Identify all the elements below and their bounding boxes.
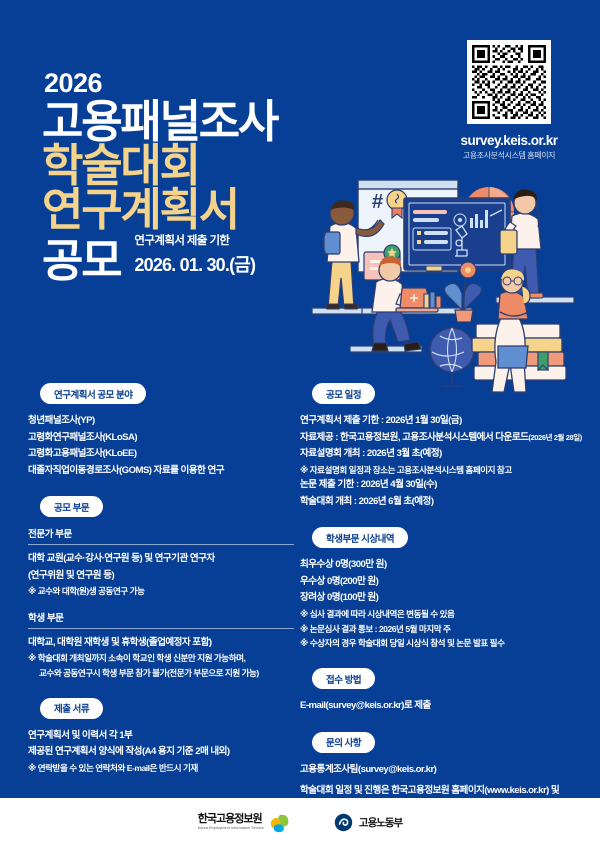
schedule-item-text: 자료설명회 개최 : 2026년 3월 초(예정) bbox=[300, 448, 442, 459]
keis-name-en: Korea Employment Information Service bbox=[198, 827, 264, 831]
keis-name-ko: 한국고용정보원 bbox=[198, 814, 264, 825]
deadline-block: 연구계획서 제출 기한 2026. 01. 30.(금) bbox=[134, 232, 255, 283]
qr-url-text: survey.keis.or.kr bbox=[444, 133, 574, 148]
globe-icon bbox=[430, 328, 474, 386]
schedule-item-note: (2026년 2월 28일) bbox=[528, 433, 581, 442]
divider bbox=[28, 628, 294, 629]
qr-block[interactable]: survey.keis.or.kr 고용조사분석시스템 홈페이지 bbox=[444, 40, 574, 161]
list-item: 대학 교원(교수·강사·연구원 등) 및 연구기관 연구자 bbox=[28, 551, 294, 568]
submission-list: E-mail(survey@keis.or.kr)로 제출 bbox=[300, 698, 590, 715]
list-item: 제공된 연구계획서 양식에 작성(A4 용지 기준 2매 내외) bbox=[28, 744, 294, 761]
schedule-item: 자료제공 : 한국고용정보원, 고용조사분석시스템에서 다운로드(2026년 2… bbox=[300, 430, 590, 447]
divider bbox=[28, 544, 294, 545]
list-item: E-mail(survey@keis.or.kr)로 제출 bbox=[300, 698, 590, 715]
pill-wrap-submission: 접수 방법 bbox=[300, 668, 590, 698]
title-line-1: 고용패널조사 bbox=[42, 100, 382, 144]
schedule-item: 논문 제출 기한 : 2026년 4월 30일(수) bbox=[300, 477, 590, 494]
schedule-item-text: 연구계획서 제출 기한 : 2026년 1월 30일(금) bbox=[300, 415, 462, 426]
division-student: 학생 부문 대학교, 대학원 재학생 및 휴학생(졸업예정자 포함) ※ 학술대… bbox=[28, 610, 294, 681]
expert-subhead: 전문가 부문 bbox=[28, 526, 294, 540]
award-item: 우수상 0명(200만 원) bbox=[300, 574, 590, 591]
list-item: 대졸자직업이동경로조사(GOMS) 자료를 이용한 연구 bbox=[28, 463, 294, 480]
list-item: 대학교, 대학원 재학생 및 휴학생(졸업예정자 포함) bbox=[28, 635, 294, 652]
section-awards: 학생부문 시상내역 최우수상 0명(300만 원) 우수상 0명(200만 원)… bbox=[300, 527, 590, 651]
note-item: ※ 논문심사 결과 통보 : 2026년 5월 마지막 주 bbox=[300, 622, 590, 637]
schedule-list: 연구계획서 제출 기한 : 2026년 1월 30일(금) 자료제공 : 한국고… bbox=[300, 413, 590, 510]
pill-wrap-divisions: 공모 부문 bbox=[28, 496, 294, 526]
keis-wordmark: 한국고용정보원 Korea Employment Information Ser… bbox=[198, 814, 264, 831]
section-documents: 제출 서류 연구계획서 및 이력서 각 1부 제공된 연구계획서 양식에 작성(… bbox=[28, 698, 294, 776]
schedule-item-text: 자료제공 : 한국고용정보원, 고용조사분석시스템에서 다운로드 bbox=[300, 432, 528, 443]
schedule-item: 연구계획서 제출 기한 : 2026년 1월 30일(금) bbox=[300, 413, 590, 430]
section-pill-documents: 제출 서류 bbox=[40, 698, 103, 719]
documents-list: 연구계획서 및 이력서 각 1부 제공된 연구계획서 양식에 작성(A4 용지 … bbox=[28, 728, 294, 776]
list-item: 고령화고용패널조사(KLoEE) bbox=[28, 446, 294, 463]
expert-lines: 대학 교원(교수·강사·연구원 등) 및 연구기관 연구자 (연구위원 및 연구… bbox=[28, 551, 294, 599]
award-item: 최우수상 0명(300만 원) bbox=[300, 557, 590, 574]
section-submission: 접수 방법 E-mail(survey@keis.or.kr)로 제출 bbox=[300, 668, 590, 715]
pill-wrap-inquiry: 문의 사항 bbox=[300, 732, 590, 762]
student-subhead: 학생 부문 bbox=[28, 610, 294, 624]
student-lines: 대학교, 대학원 재학생 및 휴학생(졸업예정자 포함) ※ 학술대회 개최일까… bbox=[28, 635, 294, 681]
division-expert: 전문가 부문 대학 교원(교수·강사·연구원 등) 및 연구기관 연구자 (연구… bbox=[28, 526, 294, 599]
deadline-label: 연구계획서 제출 기한 bbox=[134, 232, 255, 248]
pill-wrap-documents: 제출 서류 bbox=[28, 698, 294, 728]
books-stack-small bbox=[424, 292, 441, 308]
list-item: 고용통계조사팀(survey@keis.or.kr) bbox=[300, 762, 590, 779]
award-item: 장려상 0명(100만 원) bbox=[300, 590, 590, 607]
moel-logo-icon bbox=[334, 813, 353, 832]
schedule-item: 학술대회 개최 : 2026년 6월 초(예정) bbox=[300, 494, 590, 511]
pill-wrap-awards: 학생부문 시상내역 bbox=[300, 527, 590, 557]
list-item: 연구계획서 및 이력서 각 1부 bbox=[28, 728, 294, 745]
fields-list: 청년패널조사(YP) 고령화연구패널조사(KLoSA) 고령화고용패널조사(KL… bbox=[28, 413, 294, 479]
poster-root: 2026 고용패널조사 학술대회 연구계획서 공모 연구계획서 제출 기한 20… bbox=[0, 0, 600, 847]
section-schedule: 공모 일정 연구계획서 제출 기한 : 2026년 1월 30일(금) 자료제공… bbox=[300, 383, 590, 510]
section-pill-submission: 접수 방법 bbox=[312, 668, 375, 689]
left-column: 연구계획서 공모 분야 청년패널조사(YP) 고령화연구패널조사(KLoSA) … bbox=[28, 383, 294, 793]
list-item: 청년패널조사(YP) bbox=[28, 413, 294, 430]
right-column: 공모 일정 연구계획서 제출 기한 : 2026년 1월 30일(금) 자료제공… bbox=[300, 383, 590, 833]
section-divisions: 공모 부문 전문가 부문 대학 교원(교수·강사·연구원 등) 및 연구기관 연… bbox=[28, 496, 294, 681]
note-item: 교수와 공동연구시 학생 부문 참가 불가(전문가 부문으로 지원 가능) bbox=[28, 666, 294, 681]
note-item: ※ 수상자의 경우 학술대회 당일 시상식 참석 및 논문 발표 필수 bbox=[300, 636, 590, 651]
list-item: 고령화연구패널조사(KLoSA) bbox=[28, 430, 294, 447]
section-pill-schedule: 공모 일정 bbox=[312, 383, 375, 404]
section-pill-awards: 학생부문 시상내역 bbox=[312, 527, 408, 548]
logo-moel: 고용노동부 bbox=[334, 813, 402, 832]
poster-header: 2026 고용패널조사 학술대회 연구계획서 공모 연구계획서 제출 기한 20… bbox=[0, 0, 600, 380]
logo-keis: 한국고용정보원 Korea Employment Information Ser… bbox=[198, 813, 292, 833]
poster-year: 2026 bbox=[44, 68, 102, 99]
schedule-item: 자료설명회 개최 : 2026년 3월 초(예정) bbox=[300, 446, 590, 463]
list-item: (연구위원 및 연구원 등) bbox=[28, 568, 294, 585]
qr-code-icon[interactable] bbox=[467, 40, 551, 124]
poster-footer: 한국고용정보원 Korea Employment Information Ser… bbox=[0, 798, 600, 847]
pill-wrap-fields: 연구계획서 공모 분야 bbox=[28, 383, 294, 413]
note-item: ※ 자료설명회 일정과 장소는 고용조사분석시스템 홈페이지 참고 bbox=[300, 463, 590, 478]
keis-logo-icon bbox=[270, 813, 292, 833]
note-item: ※ 교수와 대학(원)생 공동연구 가능 bbox=[28, 584, 294, 599]
note-item: ※ 심사 결과에 따라 시상내역은 변동될 수 있음 bbox=[300, 607, 590, 622]
note-item: ※ 연락받을 수 있는 연락처와 E-mail은 반드시 기재 bbox=[28, 761, 294, 776]
section-fields: 연구계획서 공모 분야 청년패널조사(YP) 고령화연구패널조사(KLoSA) … bbox=[28, 383, 294, 479]
title-line-4: 공모 bbox=[42, 239, 120, 283]
deadline-date: 2026. 01. 30.(금) bbox=[134, 251, 255, 277]
note-item: ※ 학술대회 개최일까지 소속이 학교인 학생 신분만 지원 가능하며, bbox=[28, 651, 294, 666]
moel-name-ko: 고용노동부 bbox=[359, 815, 402, 830]
section-pill-divisions: 공모 부문 bbox=[40, 496, 103, 517]
section-pill-inquiry: 문의 사항 bbox=[312, 732, 375, 753]
pill-wrap-schedule: 공모 일정 bbox=[300, 383, 590, 413]
awards-list: 최우수상 0명(300만 원) 우수상 0명(200만 원) 장려상 0명(10… bbox=[300, 557, 590, 651]
blackboard bbox=[404, 198, 510, 271]
svg-text:#: # bbox=[372, 191, 383, 213]
classroom-illustration: # bbox=[300, 160, 600, 395]
section-pill-fields: 연구계획서 공모 분야 bbox=[40, 383, 146, 404]
